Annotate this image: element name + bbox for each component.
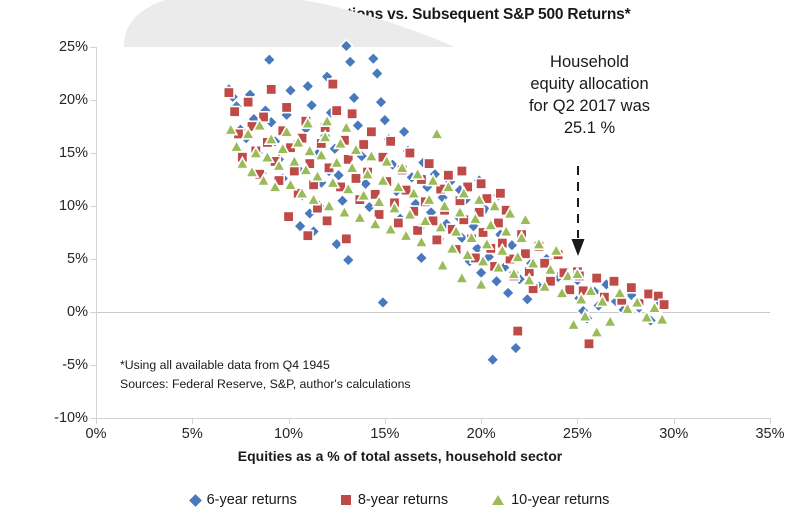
data-point: [302, 80, 314, 92]
x-tick: [577, 418, 578, 424]
data-point: [348, 92, 360, 104]
data-point: [366, 127, 376, 137]
data-point: [436, 259, 448, 270]
square-icon: [341, 495, 351, 505]
data-point: [495, 188, 505, 198]
data-point: [614, 287, 626, 298]
data-point: [342, 254, 354, 266]
data-point: [283, 211, 293, 221]
annotation-line: equity allocation: [492, 74, 687, 96]
data-point: [656, 313, 668, 324]
data-point: [567, 319, 579, 330]
data-point: [284, 84, 296, 96]
data-point: [332, 105, 342, 115]
y-tick: [90, 259, 96, 260]
data-point: [400, 229, 412, 240]
data-point: [415, 236, 427, 247]
data-point: [584, 339, 594, 349]
data-point: [443, 170, 453, 180]
data-point: [266, 84, 276, 94]
data-point: [351, 173, 361, 183]
data-point: [347, 109, 357, 119]
y-tick-label: -10%: [54, 410, 88, 426]
y-axis-title: Annualized returns over the next 6 to 10…: [0, 0, 3, 232]
legend-label: 10-year returns: [511, 492, 609, 508]
x-tick-label: 5%: [182, 426, 203, 442]
y-tick-label: 5%: [67, 251, 88, 267]
data-point: [659, 299, 669, 309]
x-tick-label: 20%: [467, 426, 496, 442]
data-point: [328, 79, 338, 89]
data-point: [604, 315, 616, 326]
data-point: [367, 52, 379, 64]
x-tick-label: 0%: [86, 426, 107, 442]
data-point: [456, 272, 468, 283]
y-tick-label: 15%: [59, 145, 88, 161]
data-point: [590, 326, 602, 337]
data-point: [393, 218, 403, 228]
x-tick: [192, 418, 193, 424]
data-point: [385, 136, 395, 146]
chart-page: Household Equity Allocations vs. Subsequ…: [0, 0, 800, 525]
data-point: [432, 235, 442, 245]
annotation-line: 25.1 %: [492, 118, 687, 140]
annotation-line: for Q2 2017 was: [492, 96, 687, 118]
data-point: [510, 342, 522, 354]
data-point: [431, 128, 443, 139]
y-tick: [90, 312, 96, 313]
y-tick: [90, 365, 96, 366]
y-tick-label: 0%: [67, 304, 88, 320]
x-tick: [674, 418, 675, 424]
y-axis-line: [96, 47, 97, 418]
data-point: [405, 148, 415, 158]
page-title: Household Equity Allocations vs. Subsequ…: [0, 6, 800, 24]
data-point: [288, 155, 300, 166]
legend-item-6-year[interactable]: 6-year returns: [191, 492, 297, 508]
data-point: [305, 99, 317, 111]
legend-item-10-year[interactable]: 10-year returns: [492, 492, 609, 508]
data-point: [486, 353, 498, 365]
diamond-icon: [189, 494, 202, 507]
data-point: [336, 194, 348, 206]
legend-label: 8-year returns: [358, 492, 448, 508]
y-tick: [90, 100, 96, 101]
data-point: [626, 282, 636, 292]
data-point: [224, 87, 234, 97]
data-point: [591, 273, 601, 283]
data-point: [521, 293, 533, 305]
footnote-line-2: Sources: Federal Reserve, S&P, author's …: [120, 375, 411, 394]
data-point: [358, 139, 368, 149]
data-point: [352, 119, 364, 131]
data-point: [338, 206, 350, 217]
x-tick-label: 10%: [274, 426, 303, 442]
x-tick: [289, 418, 290, 424]
y-tick: [90, 153, 96, 154]
y-tick-label: 10%: [59, 198, 88, 214]
x-tick-label: 15%: [370, 426, 399, 442]
data-point: [243, 97, 253, 107]
data-point: [303, 230, 313, 240]
x-tick: [770, 418, 771, 424]
data-point: [490, 275, 502, 287]
data-point: [475, 278, 487, 289]
data-point: [377, 296, 389, 308]
x-tick: [96, 418, 97, 424]
legend-label: 6-year returns: [207, 492, 297, 508]
x-tick: [481, 418, 482, 424]
annotation-arrow-icon: [566, 166, 590, 258]
data-point: [398, 126, 410, 138]
data-point: [230, 140, 242, 151]
chart-legend: 6-year returns8-year returns10-year retu…: [0, 492, 800, 508]
x-tick: [385, 418, 386, 424]
x-axis-title: Equities as a % of total assets, househo…: [0, 448, 800, 464]
x-axis-line: [96, 418, 770, 419]
footnote: *Using all available data from Q4 1945 S…: [120, 356, 411, 394]
x-tick-label: 35%: [755, 426, 784, 442]
footnote-line-1: *Using all available data from Q4 1945: [120, 356, 411, 375]
x-tick-label: 30%: [659, 426, 688, 442]
data-point: [344, 56, 356, 68]
data-point: [229, 106, 239, 116]
data-point: [263, 53, 275, 65]
data-point: [476, 179, 486, 189]
data-point: [519, 214, 531, 225]
y-tick: [90, 47, 96, 48]
data-point: [341, 234, 351, 244]
data-point: [502, 287, 514, 299]
y-tick-label: 25%: [59, 39, 88, 55]
y-tick-label: 20%: [59, 92, 88, 108]
data-point: [609, 276, 619, 286]
data-point: [354, 211, 366, 222]
data-point: [513, 326, 523, 336]
data-point: [340, 121, 352, 132]
y-tick-label: -5%: [62, 357, 88, 373]
y-tick: [90, 206, 96, 207]
data-point: [424, 158, 434, 168]
data-point: [281, 102, 291, 112]
data-point: [371, 67, 383, 79]
x-tick-label: 25%: [563, 426, 592, 442]
annotation-callout: Householdequity allocationfor Q2 2017 wa…: [492, 52, 687, 140]
data-point: [322, 216, 332, 226]
data-point: [379, 114, 391, 126]
data-point: [457, 166, 467, 176]
legend-item-8-year[interactable]: 8-year returns: [341, 492, 448, 508]
data-point: [415, 252, 427, 264]
data-point: [412, 225, 422, 235]
triangle-icon: [492, 495, 504, 505]
data-point: [375, 96, 387, 108]
data-point: [289, 166, 299, 176]
annotation-line: Household: [492, 52, 687, 74]
